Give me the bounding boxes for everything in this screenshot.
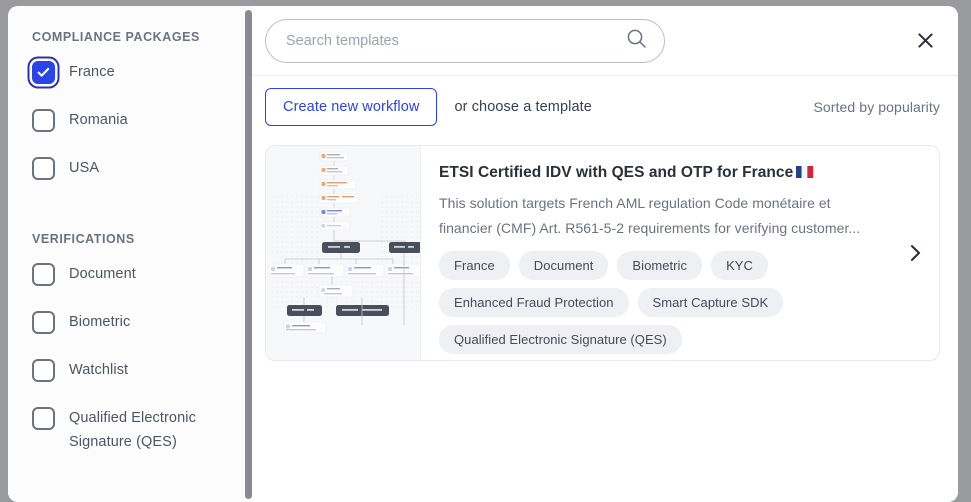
pane-header bbox=[252, 6, 958, 76]
template-title-text: ETSI Certified IDV with QES and OTP for … bbox=[439, 164, 793, 181]
filter-label-document: Document bbox=[69, 262, 136, 286]
checkbox-qes[interactable] bbox=[32, 407, 55, 430]
sidebar-scrollbar-thumb[interactable] bbox=[245, 10, 252, 499]
filter-label-watchlist: Watchlist bbox=[69, 358, 128, 382]
filter-option-document[interactable]: Document bbox=[32, 262, 232, 292]
filter-label-biometric: Biometric bbox=[69, 310, 130, 334]
close-modal-button[interactable] bbox=[910, 26, 940, 56]
template-tag[interactable]: France bbox=[439, 251, 510, 280]
checkbox-biometric[interactable] bbox=[32, 311, 55, 334]
template-open-chevron[interactable] bbox=[910, 245, 921, 262]
search-field-wrapper bbox=[265, 19, 665, 63]
filter-label-qes: Qualified Electronic Signature (QES) bbox=[69, 406, 209, 454]
filter-option-biometric[interactable]: Biometric bbox=[32, 310, 232, 340]
template-tag[interactable]: Qualified Electronic Signature (QES) bbox=[439, 325, 682, 354]
template-title: ETSI Certified IDV with QES and OTP for … bbox=[439, 164, 925, 182]
template-tag[interactable]: Enhanced Fraud Protection bbox=[439, 288, 629, 317]
filter-option-qes[interactable]: Qualified Electronic Signature (QES) bbox=[32, 406, 232, 454]
search-input[interactable] bbox=[265, 19, 665, 63]
checkbox-document[interactable] bbox=[32, 263, 55, 286]
checkbox-watchlist[interactable] bbox=[32, 359, 55, 382]
chevron-right-icon bbox=[910, 245, 921, 262]
filter-label-france: France bbox=[69, 60, 115, 84]
filter-option-france[interactable]: France bbox=[32, 60, 232, 90]
templates-pane: Create new workflow or choose a template… bbox=[252, 6, 958, 502]
template-thumbnail bbox=[266, 146, 421, 360]
section-title-compliance-packages: COMPLIANCE PACKAGES bbox=[32, 30, 232, 44]
page-scrollbar[interactable] bbox=[956, 0, 971, 501]
template-card[interactable]: ETSI Certified IDV with QES and OTP for … bbox=[265, 145, 940, 361]
template-tag-list: France Document Biometric KYC Enhanced F… bbox=[439, 251, 879, 354]
checkbox-usa[interactable] bbox=[32, 157, 55, 180]
section-title-verifications: VERIFICATIONS bbox=[32, 232, 232, 246]
filter-option-romania[interactable]: Romania bbox=[32, 108, 232, 138]
choose-template-label: or choose a template bbox=[454, 99, 591, 115]
france-flag-icon bbox=[796, 165, 813, 177]
pane-subheader: Create new workflow or choose a template… bbox=[252, 76, 958, 138]
template-tag[interactable]: Document bbox=[519, 251, 609, 280]
filter-option-watchlist[interactable]: Watchlist bbox=[32, 358, 232, 388]
template-picker-modal: COMPLIANCE PACKAGES France Romania USA V… bbox=[8, 6, 958, 502]
template-description: This solution targets French AML regulat… bbox=[439, 191, 867, 241]
sidebar-scrollbar[interactable] bbox=[245, 6, 252, 502]
filter-label-usa: USA bbox=[69, 156, 99, 180]
template-tag[interactable]: Smart Capture SDK bbox=[638, 288, 784, 317]
checkbox-romania[interactable] bbox=[32, 109, 55, 132]
sort-order-label[interactable]: Sorted by popularity bbox=[813, 99, 940, 115]
filter-option-usa[interactable]: USA bbox=[32, 156, 232, 186]
template-tag[interactable]: Biometric bbox=[617, 251, 702, 280]
checkbox-france[interactable] bbox=[32, 61, 55, 84]
create-new-workflow-button[interactable]: Create new workflow bbox=[265, 88, 437, 126]
check-icon bbox=[37, 66, 50, 79]
template-card-list: ETSI Certified IDV with QES and OTP for … bbox=[252, 138, 958, 502]
filters-sidebar: COMPLIANCE PACKAGES France Romania USA V… bbox=[8, 6, 252, 502]
template-card-body: ETSI Certified IDV with QES and OTP for … bbox=[421, 146, 939, 360]
template-tag[interactable]: KYC bbox=[711, 251, 768, 280]
workflow-diagram-preview-icon bbox=[266, 146, 421, 360]
filter-label-romania: Romania bbox=[69, 108, 128, 132]
close-icon bbox=[918, 33, 933, 48]
